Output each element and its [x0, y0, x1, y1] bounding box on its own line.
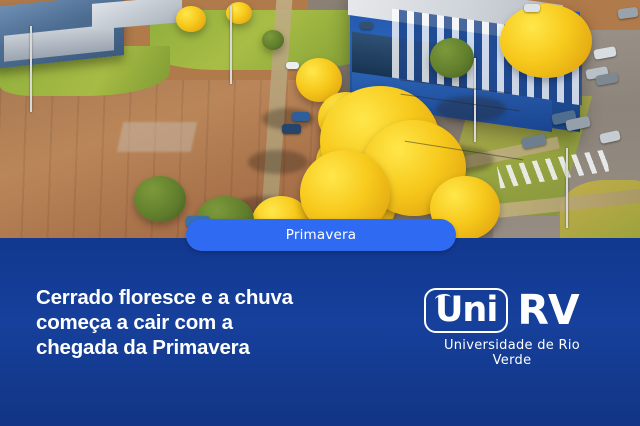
photo-light-pole [474, 58, 476, 142]
photo-ipe-tree [176, 6, 206, 32]
banner-screenshot: Primavera Cerrado floresce e a chuva com… [0, 0, 640, 426]
logo-tagline: Universidade de Rio Verde [424, 338, 600, 368]
photo-light-pole [230, 6, 232, 84]
photo-light-pole [30, 26, 32, 112]
photo-ipe-tree-large [500, 4, 592, 78]
photo-car [292, 112, 310, 121]
category-badge-label: Primavera [286, 227, 357, 243]
photo-car [360, 22, 373, 29]
photo-car [524, 4, 540, 12]
photo-car [617, 7, 638, 20]
category-badge-primavera[interactable]: Primavera [186, 219, 456, 251]
article-headline: Cerrado floresce e a chuva começa a cair… [36, 285, 386, 360]
photo-car [286, 62, 299, 69]
photo-green-tree [262, 30, 284, 50]
photo-tree-shadow [248, 150, 308, 174]
logo-wordmark: Uni RV [424, 283, 604, 337]
headline-line-2: começa a cair com a [36, 310, 386, 335]
photo-green-tree [134, 176, 186, 222]
headline-line-1: Cerrado floresce e a chuva [36, 285, 386, 310]
photo-car [282, 124, 301, 134]
logo-uni-box: Uni [424, 288, 508, 333]
headline-line-3: chegada da Primavera [36, 335, 386, 360]
logo-rv-text: RV [517, 289, 578, 331]
unirv-logo[interactable]: Uni RV Universidade de Rio Verde [424, 283, 604, 361]
photo-light-pole [566, 148, 568, 228]
hero-photo [0, 0, 640, 240]
photo-green-tree [430, 38, 474, 78]
